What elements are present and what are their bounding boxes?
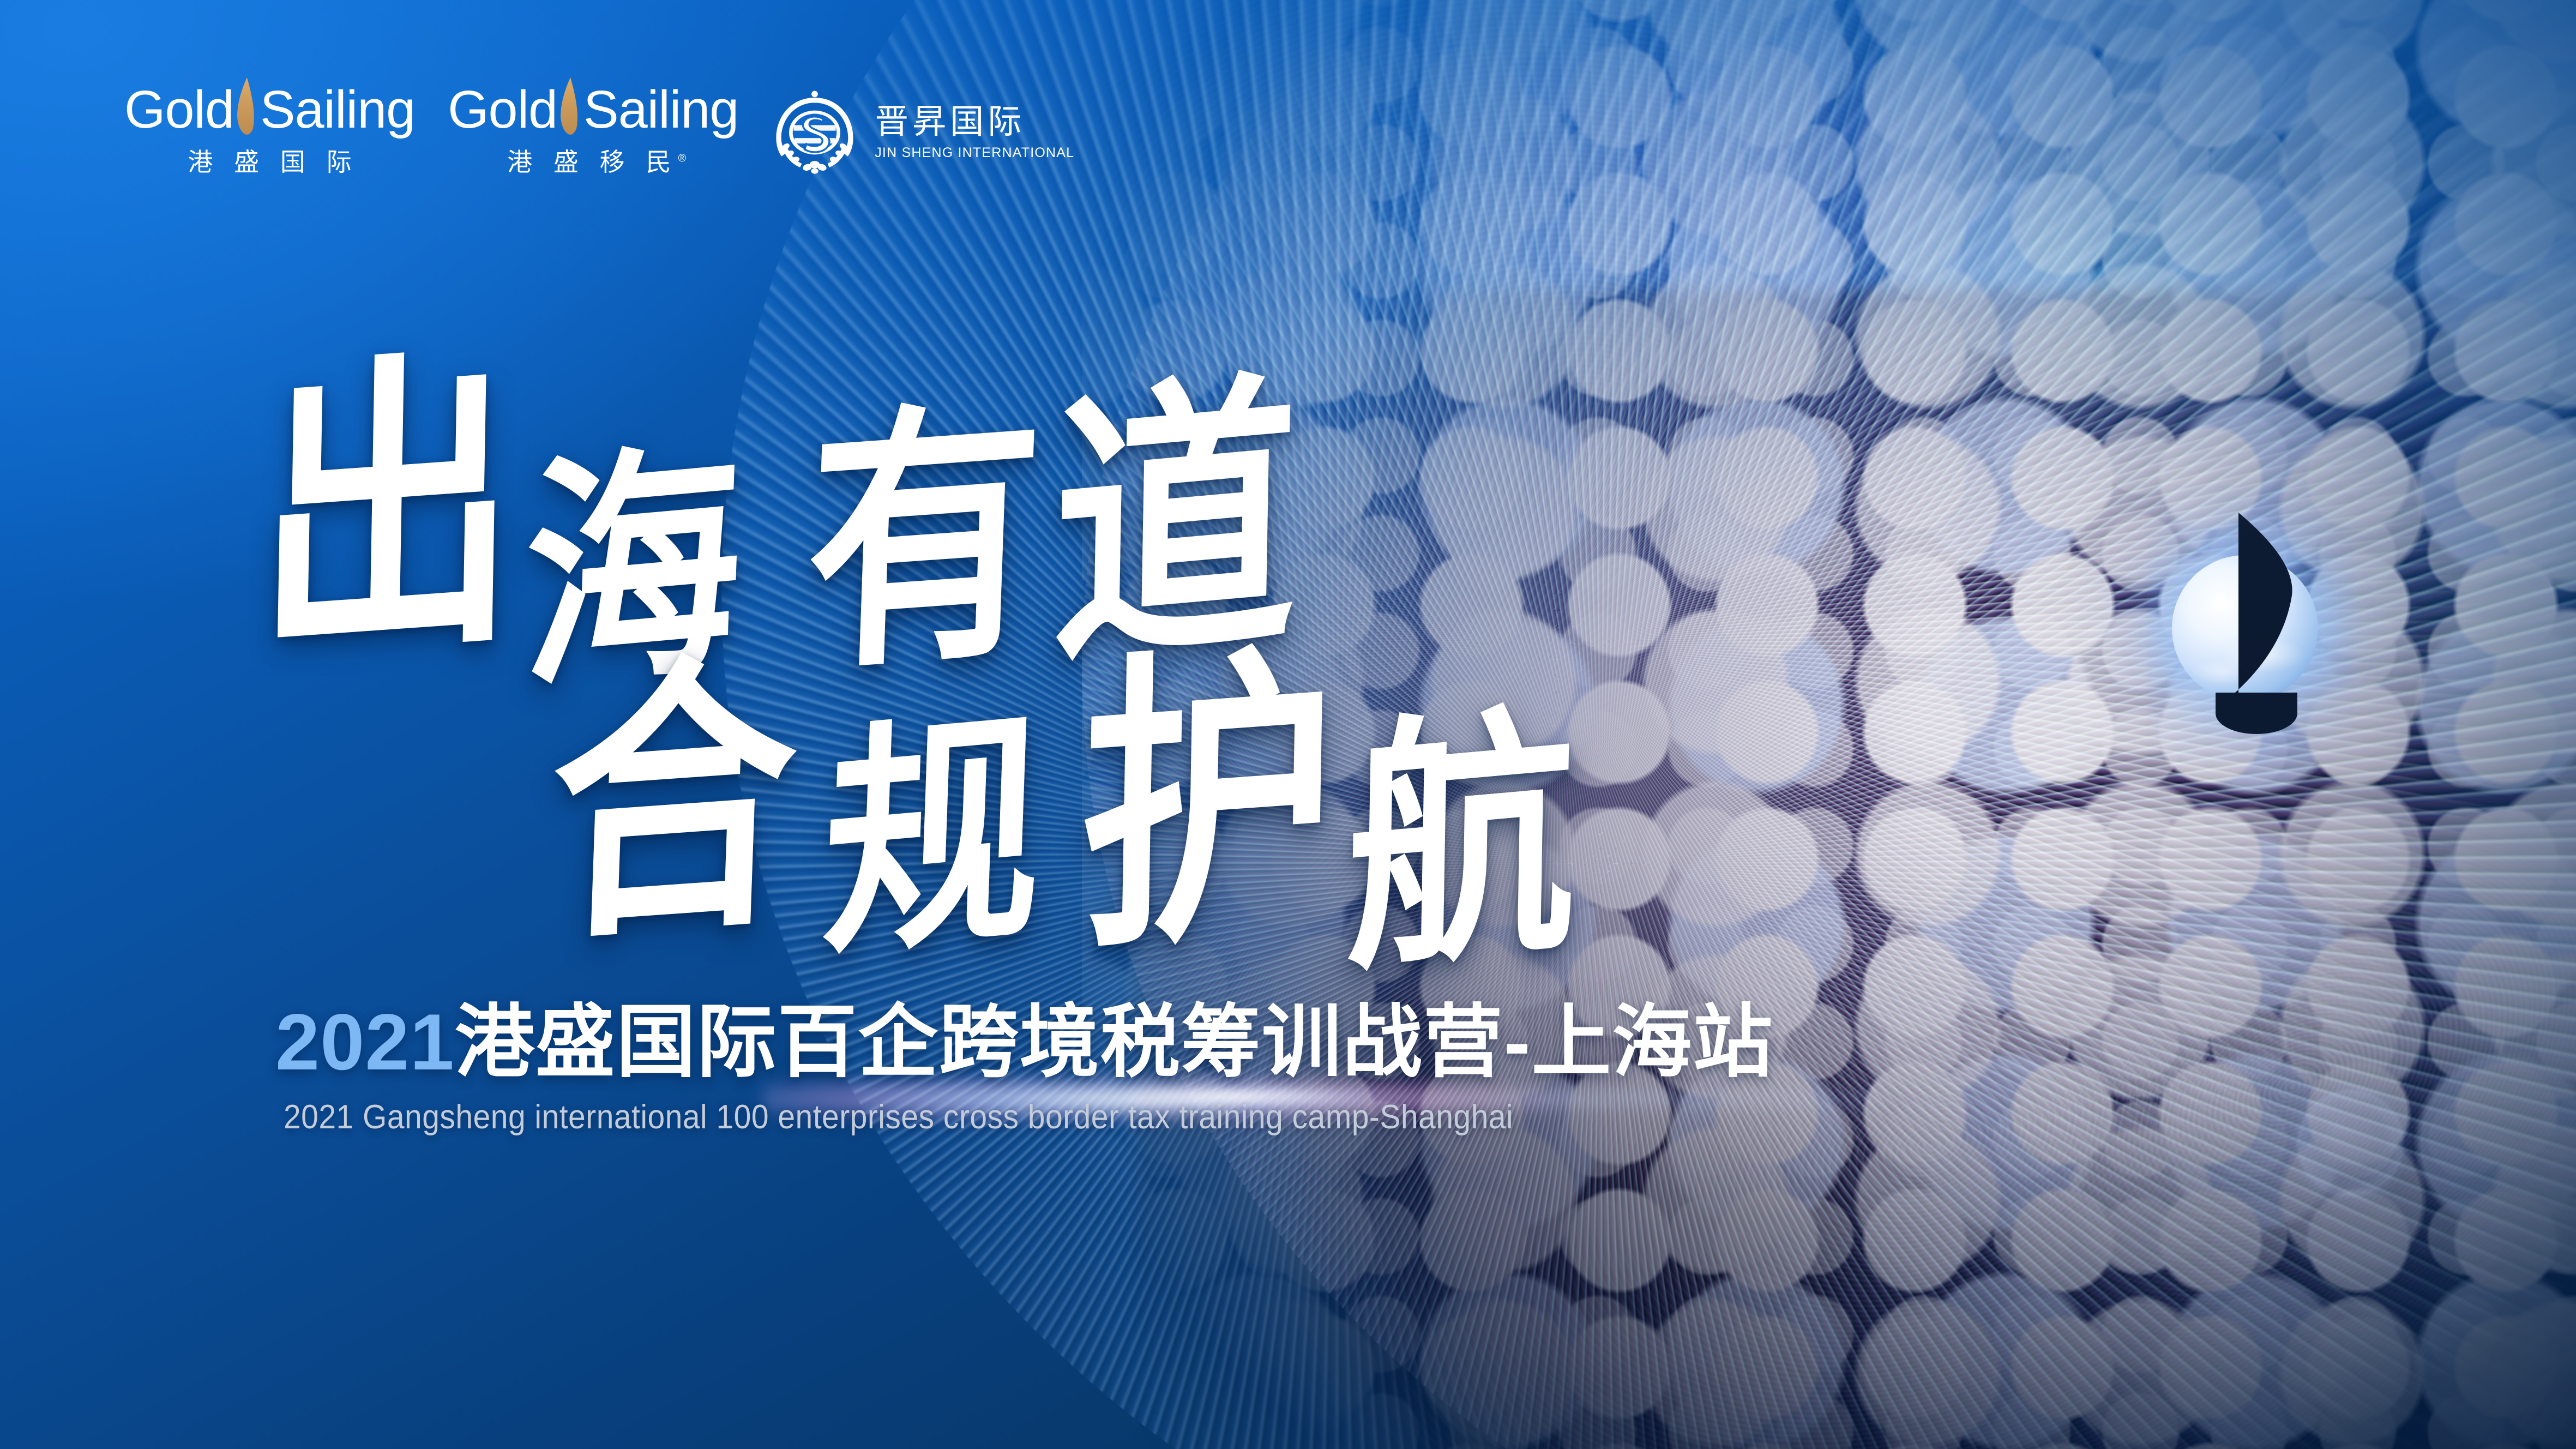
logo-chinese-name: 港 盛 国 际 bbox=[180, 142, 358, 178]
wordmark-right: Sailing bbox=[260, 83, 415, 137]
registered-trademark-icon: ® bbox=[678, 153, 686, 165]
sail-mark-icon bbox=[558, 77, 580, 135]
sail-mark-icon bbox=[235, 77, 257, 135]
wordmark: Gold Sailing bbox=[124, 70, 415, 137]
sailboat-icon bbox=[2162, 513, 2337, 742]
crest-chinese-name: 晋昇国际 bbox=[875, 104, 1074, 140]
wordmark-left: Gold bbox=[448, 83, 557, 137]
wordmark-right: Sailing bbox=[583, 83, 738, 137]
logo-bar: Gold Sailing 港 盛 国 际 Gold Sailing 港 盛 移 … bbox=[124, 70, 1074, 178]
logo-chinese-name: 港 盛 移 民® bbox=[500, 142, 686, 178]
crest-text: 晋昇国际 JIN SHENG INTERNATIONAL bbox=[875, 104, 1074, 161]
logo-jin-sheng-international[interactable]: 晋昇国际 JIN SHENG INTERNATIONAL bbox=[769, 87, 1074, 178]
logo-gold-sailing-immigration[interactable]: Gold Sailing 港 盛 移 民® bbox=[448, 70, 738, 178]
hull-shape bbox=[2216, 693, 2297, 734]
subtitle-chinese: 2021港盛国际百企跨境税筹训战营-上海站 bbox=[275, 1002, 1773, 1082]
headline-char-5: 合 bbox=[546, 648, 801, 956]
headline-char-7: 护 bbox=[1078, 639, 1339, 965]
event-banner: Gold Sailing 港 盛 国 际 Gold Sailing 港 盛 移 … bbox=[0, 0, 2576, 1449]
wordmark-left: Gold bbox=[124, 83, 234, 137]
subtitle-year: 2021 bbox=[275, 997, 455, 1086]
headline-char-1: 出 bbox=[254, 346, 521, 674]
subtitle-chinese-text: 港盛国际百企跨境税筹训战营-上海站 bbox=[455, 997, 1774, 1086]
subtitle-english: 2021 Gangsheng international 100 enterpr… bbox=[284, 1098, 1513, 1137]
headline-char-6: 规 bbox=[820, 705, 1045, 970]
wordmark: Gold Sailing bbox=[448, 70, 738, 137]
teal-tint-upper bbox=[1829, 145, 2344, 522]
bubble-orb bbox=[2297, 1090, 2404, 1197]
crest-english-name: JIN SHENG INTERNATIONAL bbox=[875, 145, 1074, 161]
headline-calligraphy: 出 海 有 道 合 规 护 航 bbox=[0, 297, 1772, 968]
headline-char-8: 航 bbox=[1345, 701, 1578, 984]
logo-gold-sailing-international[interactable]: Gold Sailing 港 盛 国 际 bbox=[124, 70, 415, 178]
crest-emblem-s-icon bbox=[769, 87, 860, 178]
headline-char-3: 有 bbox=[803, 395, 1046, 684]
